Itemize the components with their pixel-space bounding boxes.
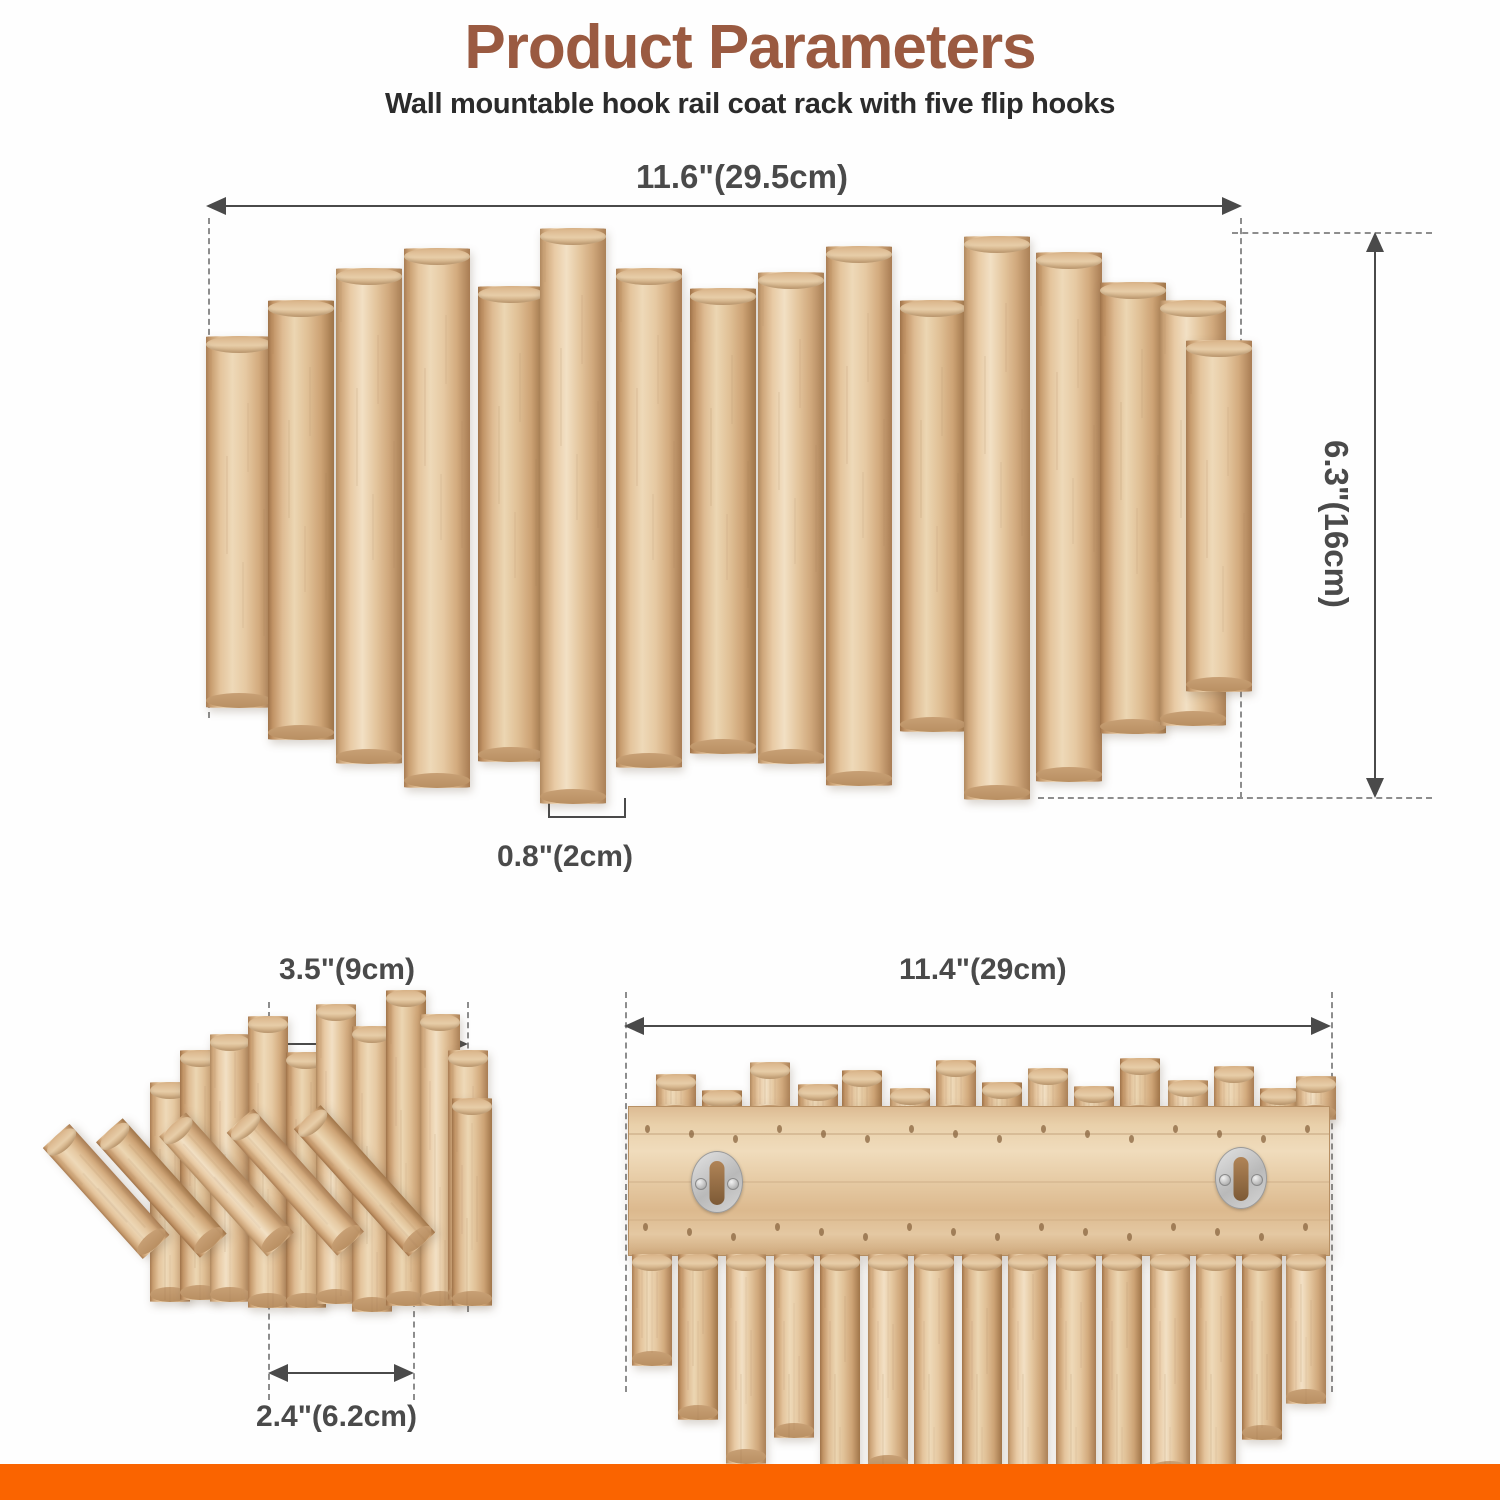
- wooden-dowel: [820, 1254, 860, 1498]
- angled-view: 3.5"(9cm) 2.4"(6.2cm): [0, 930, 520, 1490]
- front-dowel-group: [0, 0, 1500, 900]
- wooden-dowel: [452, 1098, 492, 1306]
- back-view: 11.4"(29cm): [580, 930, 1400, 1470]
- wooden-dowel: [1150, 1254, 1190, 1476]
- wooden-dowel: [868, 1254, 908, 1470]
- wooden-dowel: [826, 246, 892, 786]
- wooden-dowel: [758, 272, 824, 764]
- wooden-dowel: [726, 1254, 766, 1464]
- front-view: 11.6"(29.5cm) 6.3"(16cm) 0.8"(2cm): [0, 0, 1500, 900]
- back-bottom-dowel-group: [580, 930, 1400, 1470]
- wooden-dowel: [1036, 252, 1102, 782]
- wooden-dowel: [774, 1254, 814, 1438]
- wooden-dowel: [540, 228, 606, 804]
- product-parameters-infographic: Product Parameters Wall mountable hook r…: [0, 0, 1500, 1500]
- wooden-dowel: [1196, 1254, 1236, 1498]
- wooden-dowel: [206, 336, 272, 708]
- wooden-dowel: [962, 1254, 1002, 1486]
- wooden-dowel: [678, 1254, 718, 1420]
- wooden-dowel: [1056, 1254, 1096, 1492]
- wooden-dowel: [478, 286, 544, 762]
- wooden-dowel: [616, 268, 682, 768]
- footer-accent-bar: [0, 1464, 1500, 1500]
- wooden-dowel: [1242, 1254, 1282, 1440]
- wooden-dowel: [1186, 340, 1252, 692]
- angled-dowel-group: [0, 930, 520, 1490]
- wooden-dowel: [404, 248, 470, 788]
- wooden-dowel: [1100, 282, 1166, 734]
- wooden-dowel: [964, 236, 1030, 800]
- wooden-dowel: [632, 1254, 672, 1366]
- wooden-dowel: [336, 268, 402, 764]
- wooden-dowel: [268, 300, 334, 740]
- wooden-dowel: [900, 300, 966, 732]
- wooden-dowel: [690, 288, 756, 754]
- wooden-dowel: [1286, 1254, 1326, 1404]
